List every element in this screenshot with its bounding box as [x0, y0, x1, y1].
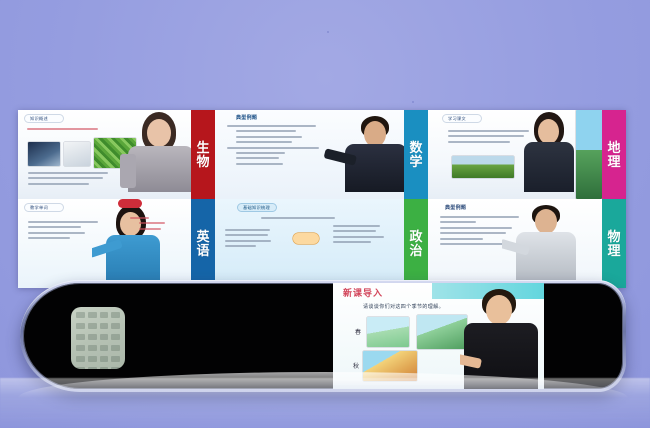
slide-heading-politics: 基础知识梳理	[237, 203, 277, 212]
season-label-autumn: 秋	[353, 361, 359, 370]
slide-thumbnail	[28, 142, 60, 166]
teacher-body	[345, 144, 404, 192]
lesson-video-geography[interactable]: 学习课文	[428, 110, 602, 199]
subject-tile-biology[interactable]: 知识概述	[18, 110, 215, 199]
teacher-body	[128, 146, 191, 192]
speck	[412, 101, 414, 103]
keypad-row	[76, 312, 120, 318]
slide-thumbnail	[64, 142, 90, 166]
diagram-node	[293, 233, 319, 244]
slide-geography: 学习课文	[428, 110, 602, 199]
subject-char: 政	[409, 230, 422, 243]
slide-math: 典型例题	[215, 110, 404, 199]
teacher-head	[538, 119, 559, 144]
promo-scene: 知识概述	[0, 0, 650, 428]
teacher-head	[535, 209, 557, 234]
slide-body-math	[227, 125, 321, 168]
slide-side-image	[576, 110, 602, 199]
teacher-figure	[319, 110, 404, 199]
subject-char: 生	[196, 141, 209, 154]
device-slide-title: 新课导入	[343, 286, 383, 299]
device-slide-subtitle: 请谈谈你们对这四个季节的理解。	[363, 303, 444, 310]
slide-heading-english: 教学单词	[24, 203, 64, 212]
season-image-spring	[367, 317, 409, 347]
teacher-figure	[512, 110, 584, 199]
subject-char: 地	[607, 141, 620, 154]
teacher-figure	[114, 110, 191, 199]
season-label-spring: 春	[355, 327, 361, 336]
slide-body-english	[28, 221, 101, 243]
slide-heading-biology: 知识概述	[24, 114, 64, 123]
slide-heading-math: 典型例题	[231, 113, 271, 122]
subject-char: 理	[607, 155, 620, 168]
keypad-row	[76, 356, 120, 362]
teacher-bow	[118, 199, 142, 208]
slide-biology: 知识概述	[18, 110, 191, 199]
subject-row: 知识概述	[18, 110, 626, 199]
teacher-head	[147, 119, 171, 147]
subject-char: 理	[607, 244, 620, 257]
lesson-video-math[interactable]: 典型例题	[215, 110, 404, 199]
subject-char: 物	[196, 155, 209, 168]
teacher-head	[486, 295, 512, 325]
device-area: 新课导入 请谈谈你们对这四个季节的理解。 春 夏 秋 冬	[0, 268, 650, 428]
device-reflection	[0, 378, 650, 428]
keypad-row	[76, 334, 120, 340]
slide-heading-geography: 学习课文	[442, 114, 482, 123]
teacher-arm	[120, 154, 136, 188]
subject-tile-geography[interactable]: 学习课文	[428, 110, 626, 199]
slide-body-politics	[261, 217, 347, 222]
subject-char: 治	[409, 244, 422, 257]
subject-char: 语	[196, 244, 209, 257]
lesson-video-biology[interactable]: 知识概述	[18, 110, 191, 199]
speck	[327, 31, 329, 33]
subject-label-geography: 地 理	[602, 110, 626, 199]
subject-grid: 知识概述	[18, 110, 626, 288]
subject-char: 英	[196, 230, 209, 243]
diagram-left	[225, 229, 275, 251]
keypad-row	[76, 323, 120, 329]
teacher-body	[524, 142, 574, 192]
subject-char: 数	[409, 141, 422, 154]
slide-body-biology	[27, 128, 118, 133]
device-keypad[interactable]	[71, 307, 125, 369]
subject-label-biology: 生 物	[191, 110, 215, 199]
subject-tile-math[interactable]: 典型例题	[215, 110, 428, 199]
subject-char: 学	[409, 155, 422, 168]
keypad-row	[76, 367, 120, 369]
slide-annotation	[130, 217, 185, 233]
slide-caption-biology	[28, 172, 115, 188]
diagram-right	[333, 225, 398, 247]
keypad-row	[76, 345, 120, 351]
device-teacher-figure	[460, 283, 544, 389]
subject-char: 物	[607, 230, 620, 243]
slide-thumbnail	[452, 156, 514, 178]
slide-heading-physics: 典型例题	[440, 203, 480, 212]
subject-label-math: 数 学	[404, 110, 428, 199]
